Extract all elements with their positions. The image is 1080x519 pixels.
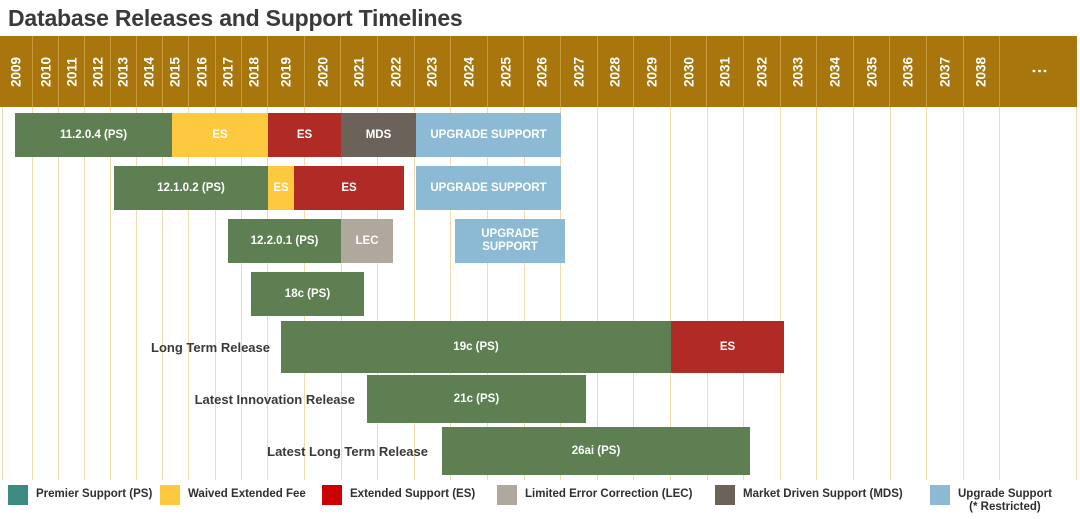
legend-label: Upgrade Support (* Restricted) — [958, 482, 1052, 514]
bar-label: LEC — [356, 235, 379, 248]
legend-item[interactable]: Waived Extended Fee — [160, 482, 306, 519]
year-column-2035: 2035 — [854, 36, 891, 107]
bar-label: MDS — [366, 129, 392, 142]
year-label: 2032 — [754, 56, 769, 86]
year-column-2028: 2028 — [598, 36, 635, 107]
year-label: 2026 — [535, 56, 550, 86]
year-column-2031: 2031 — [708, 36, 745, 107]
year-column-2019: 2019 — [268, 36, 305, 107]
timeline-bar-segment[interactable]: 11.2.0.4 (PS) — [15, 113, 172, 157]
year-label: 2027 — [571, 56, 586, 86]
bar-label: UPGRADE SUPPORT — [430, 129, 546, 142]
year-label: 2025 — [498, 56, 513, 86]
timeline-bar-segment[interactable]: 26ai (PS) — [442, 427, 750, 475]
chart-page: Database Releases and Support Timelines … — [0, 0, 1080, 519]
legend-swatch — [715, 485, 735, 505]
year-label: 2036 — [901, 56, 916, 86]
timeline-bar-segment[interactable]: MDS — [341, 113, 416, 157]
timeline-bar-segment[interactable]: UPGRADE SUPPORT — [416, 166, 561, 210]
year-label: 2030 — [681, 56, 696, 86]
year-column-2029: 2029 — [634, 36, 671, 107]
year-label: 2013 — [116, 56, 131, 86]
bar-label: 26ai (PS) — [572, 445, 621, 458]
year-column-2010: 2010 — [33, 36, 59, 107]
timeline-plot-area: 11.2.0.4 (PS)ESESMDSUPGRADE SUPPORT12.1.… — [0, 107, 1077, 480]
year-label: 2033 — [791, 56, 806, 86]
timeline-bar-segment[interactable]: 21c (PS) — [367, 375, 586, 423]
bar-label: 11.2.0.4 (PS) — [60, 129, 127, 142]
row-label: Long Term Release — [60, 321, 280, 373]
timeline-bar-segment[interactable]: UPGRADE SUPPORT — [416, 113, 561, 157]
year-label: 2016 — [194, 56, 209, 86]
legend-label: Waived Extended Fee — [188, 482, 306, 501]
bar-label: ES — [720, 341, 735, 354]
bar-label: UPGRADE SUPPORT — [430, 182, 546, 195]
timeline-bar-segment[interactable]: 18c (PS) — [251, 272, 364, 316]
year-column-2017: 2017 — [216, 36, 242, 107]
year-label: 2035 — [864, 56, 879, 86]
timeline-bar-segment[interactable]: 12.1.0.2 (PS) — [114, 166, 268, 210]
timeline-bar-segment[interactable]: ES — [268, 166, 294, 210]
year-label: 2012 — [90, 56, 105, 86]
year-label: 2019 — [279, 56, 294, 86]
row-label: Latest Long Term Release — [160, 427, 438, 475]
year-column-2024: 2024 — [451, 36, 488, 107]
year-column-2027: 2027 — [561, 36, 598, 107]
legend-swatch — [322, 485, 342, 505]
year-column-overflow: ⋮ — [1000, 36, 1077, 107]
timeline-bar-segment[interactable]: ES — [294, 166, 404, 210]
bar-label: 19c (PS) — [453, 341, 498, 354]
legend-swatch — [8, 485, 28, 505]
legend-item[interactable]: Market Driven Support (MDS) — [715, 482, 903, 519]
year-column-2016: 2016 — [189, 36, 215, 107]
bar-label: ES — [297, 129, 312, 142]
year-column-2018: 2018 — [242, 36, 269, 107]
year-label: 2017 — [221, 56, 236, 86]
year-column-2030: 2030 — [671, 36, 708, 107]
timeline-bar-segment[interactable]: ES — [671, 321, 784, 373]
timeline-row: 18c (PS) — [0, 272, 1077, 316]
year-label: 2022 — [388, 56, 403, 86]
year-column-2038: 2038 — [964, 36, 1001, 107]
bar-label: 12.2.0.1 (PS) — [251, 235, 319, 248]
year-column-2022: 2022 — [378, 36, 415, 107]
year-column-2023: 2023 — [415, 36, 452, 107]
bar-label: ES — [341, 182, 356, 195]
year-label: 2009 — [9, 56, 24, 86]
timeline-row: Latest Innovation Release21c (PS) — [0, 375, 1077, 423]
legend-label: Extended Support (ES) — [350, 482, 475, 501]
legend: Premier Support (PS)Waived Extended FeeE… — [0, 482, 1080, 519]
legend-swatch — [160, 485, 180, 505]
year-column-2037: 2037 — [927, 36, 964, 107]
year-column-2021: 2021 — [342, 36, 379, 107]
year-column-2015: 2015 — [163, 36, 190, 107]
year-column-2032: 2032 — [744, 36, 781, 107]
timeline-bar-segment[interactable]: LEC — [341, 219, 393, 263]
year-column-2034: 2034 — [817, 36, 854, 107]
timeline-bar-segment[interactable]: UPGRADE SUPPORT — [455, 219, 565, 263]
timeline-row: 12.2.0.1 (PS)LECUPGRADE SUPPORT — [0, 219, 1077, 263]
year-label: 2034 — [828, 56, 843, 86]
year-label: 2028 — [608, 56, 623, 86]
legend-label: Market Driven Support (MDS) — [743, 482, 903, 501]
year-column-2012: 2012 — [85, 36, 111, 107]
legend-swatch — [497, 485, 517, 505]
year-label: 2011 — [64, 57, 79, 86]
year-label: 2029 — [645, 56, 660, 86]
page-title: Database Releases and Support Timelines — [8, 2, 708, 34]
year-label: 2010 — [38, 56, 53, 86]
timeline-row: 11.2.0.4 (PS)ESESMDSUPGRADE SUPPORT — [0, 113, 1077, 157]
year-label: 2031 — [718, 56, 733, 86]
timeline-bar-segment[interactable]: ES — [172, 113, 268, 157]
year-label: 2015 — [168, 56, 183, 86]
bar-label: ES — [273, 182, 288, 195]
legend-swatch — [930, 485, 950, 505]
year-label: 2037 — [937, 56, 952, 86]
legend-item[interactable]: Premier Support (PS) — [8, 482, 152, 519]
legend-label: Limited Error Correction (LEC) — [525, 482, 692, 501]
legend-item[interactable]: Extended Support (ES) — [322, 482, 475, 519]
year-column-2013: 2013 — [111, 36, 137, 107]
bar-label: 18c (PS) — [285, 288, 330, 301]
legend-item[interactable]: Upgrade Support (* Restricted) — [930, 482, 1052, 519]
legend-item[interactable]: Limited Error Correction (LEC) — [497, 482, 692, 519]
year-column-2025: 2025 — [488, 36, 525, 107]
year-label: 2018 — [247, 56, 262, 86]
row-label: Latest Innovation Release — [100, 375, 365, 423]
year-axis-header: 2009201020112012201320142015201620172018… — [0, 36, 1077, 108]
year-label: 2021 — [352, 56, 367, 86]
timeline-bar-segment[interactable]: ES — [268, 113, 341, 157]
vertical-ellipsis-icon: ⋮ — [1037, 63, 1041, 81]
bar-label: ES — [212, 129, 227, 142]
year-column-2026: 2026 — [525, 36, 562, 107]
timeline-row: Latest Long Term Release26ai (PS) — [0, 427, 1077, 475]
year-label: 2038 — [974, 56, 989, 86]
year-column-2014: 2014 — [137, 36, 163, 107]
year-label: 2024 — [462, 56, 477, 86]
year-label: 2014 — [142, 56, 157, 86]
year-column-2020: 2020 — [305, 36, 342, 107]
year-column-2033: 2033 — [781, 36, 818, 107]
year-label: 2023 — [425, 56, 440, 86]
timeline-bar-segment[interactable]: 12.2.0.1 (PS) — [228, 219, 341, 263]
bar-label: 21c (PS) — [454, 393, 499, 406]
year-label: 2020 — [315, 56, 330, 86]
year-column-2009: 2009 — [0, 36, 33, 107]
timeline-row: 12.1.0.2 (PS)ESESUPGRADE SUPPORT — [0, 166, 1077, 210]
timeline-bar-segment[interactable]: 19c (PS) — [281, 321, 671, 373]
bar-label: UPGRADE SUPPORT — [481, 228, 539, 254]
timeline-row: Long Term Release19c (PS)ES — [0, 321, 1077, 373]
year-column-2011: 2011 — [59, 36, 85, 107]
legend-label: Premier Support (PS) — [36, 482, 152, 501]
bar-label: 12.1.0.2 (PS) — [157, 182, 225, 195]
year-column-2036: 2036 — [891, 36, 928, 107]
